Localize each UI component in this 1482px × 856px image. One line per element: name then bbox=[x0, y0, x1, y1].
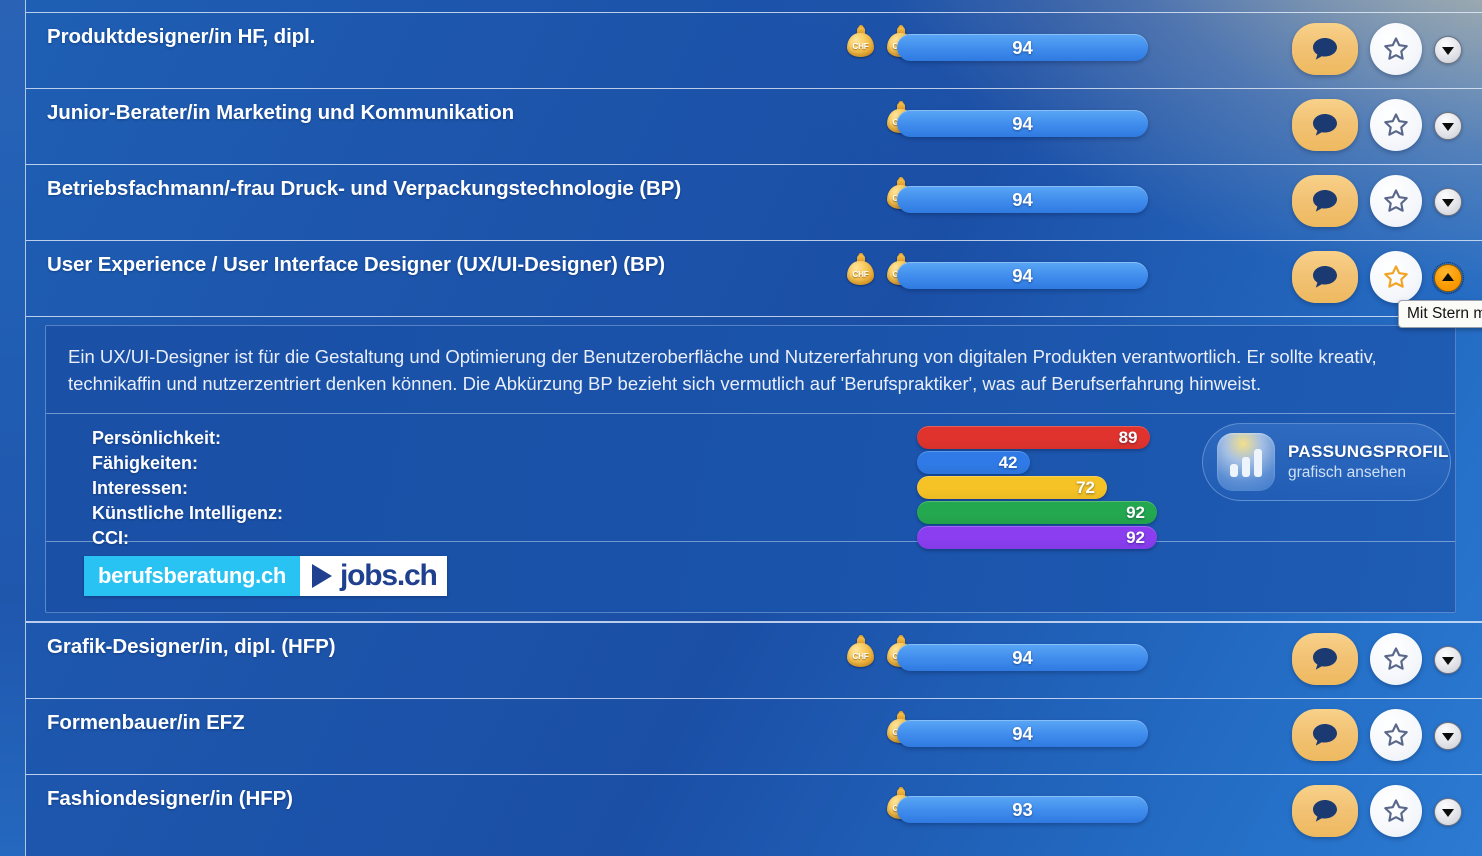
star-button[interactable] bbox=[1370, 785, 1422, 837]
expand-toggle-button[interactable] bbox=[1434, 798, 1462, 826]
star-button[interactable] bbox=[1370, 175, 1422, 227]
job-list: Produktdesigner/in HF, dipl.CHFCHF94Juni… bbox=[26, 0, 1482, 850]
chat-bubble-icon bbox=[1312, 799, 1338, 823]
job-row[interactable]: User Experience / User Interface Designe… bbox=[26, 240, 1482, 316]
chat-bubble-icon bbox=[1312, 723, 1338, 747]
star-icon bbox=[1382, 722, 1410, 749]
money-bag-chf-icon: CHF bbox=[847, 27, 874, 57]
star-icon bbox=[1382, 112, 1410, 139]
star-button[interactable] bbox=[1370, 23, 1422, 75]
star-icon bbox=[1382, 264, 1410, 291]
score-value: 42 bbox=[999, 453, 1018, 473]
job-title: Produktdesigner/in HF, dipl. bbox=[47, 25, 315, 49]
star-icon bbox=[1382, 188, 1410, 215]
job-match-list-page: Produktdesigner/in HF, dipl.CHFCHF94Juni… bbox=[0, 0, 1482, 856]
star-button[interactable] bbox=[1370, 251, 1422, 303]
match-score-value: 94 bbox=[1012, 37, 1033, 59]
match-score-bar: 94 bbox=[897, 110, 1148, 137]
match-score-value: 94 bbox=[1012, 265, 1033, 287]
score-bar-column: 8942729292 bbox=[917, 426, 1167, 551]
score-label: CCI: bbox=[92, 526, 283, 551]
job-title: Betriebsfachmann/-frau Druck- und Verpac… bbox=[47, 177, 681, 201]
chat-button[interactable] bbox=[1292, 99, 1358, 151]
match-score-bar: 94 bbox=[897, 720, 1148, 747]
collapse-toggle-button[interactable] bbox=[1434, 264, 1462, 292]
score-bar: 92 bbox=[917, 526, 1157, 549]
score-label: Interessen: bbox=[92, 476, 283, 501]
score-label: Persönlichkeit: bbox=[92, 426, 283, 451]
row-actions bbox=[1292, 785, 1462, 837]
chevron-down-icon bbox=[1442, 199, 1454, 207]
job-detail-panel: Ein UX/UI-Designer ist für die Gestaltun… bbox=[26, 316, 1482, 622]
score-label: Künstliche Intelligenz: bbox=[92, 501, 283, 526]
chat-button[interactable] bbox=[1292, 175, 1358, 227]
chat-button[interactable] bbox=[1292, 785, 1358, 837]
score-value: 72 bbox=[1076, 478, 1095, 498]
passungsprofil-subtitle: grafisch ansehen bbox=[1288, 464, 1449, 482]
chat-button[interactable] bbox=[1292, 251, 1358, 303]
star-tooltip: Mit Stern ma bbox=[1398, 300, 1482, 328]
job-title: Fashiondesigner/in (HFP) bbox=[47, 787, 293, 811]
expand-toggle-button[interactable] bbox=[1434, 36, 1462, 64]
bar-chart-icon bbox=[1217, 433, 1275, 491]
score-value: 92 bbox=[1126, 503, 1145, 523]
job-title: Junior-Berater/in Marketing und Kommunik… bbox=[47, 101, 514, 125]
star-icon bbox=[1382, 646, 1410, 673]
chat-bubble-icon bbox=[1312, 647, 1338, 671]
job-row[interactable]: Grafik-Designer/in, dipl. (HFP)CHFCHF94 bbox=[26, 622, 1482, 698]
match-score-bar: 94 bbox=[897, 644, 1148, 671]
job-description: Ein UX/UI-Designer ist für die Gestaltun… bbox=[46, 326, 1455, 414]
chevron-down-icon bbox=[1442, 809, 1454, 817]
score-value: 89 bbox=[1119, 428, 1138, 448]
score-bar: 89 bbox=[917, 426, 1150, 449]
chevron-down-icon bbox=[1442, 733, 1454, 741]
match-score-bar: 94 bbox=[897, 34, 1148, 61]
chat-button[interactable] bbox=[1292, 709, 1358, 761]
row-actions bbox=[1292, 99, 1462, 151]
partner-logos: berufsberatung.chjobs.ch bbox=[46, 542, 1455, 612]
job-row[interactable]: Produktdesigner/in HF, dipl.CHFCHF94 bbox=[26, 12, 1482, 88]
match-score-bar: 94 bbox=[897, 186, 1148, 213]
chevron-down-icon bbox=[1442, 657, 1454, 665]
chat-button[interactable] bbox=[1292, 633, 1358, 685]
score-value: 92 bbox=[1126, 528, 1145, 548]
chat-button[interactable] bbox=[1292, 23, 1358, 75]
money-bag-chf-icon: CHF bbox=[847, 637, 874, 667]
jobs-logo-text: jobs.ch bbox=[340, 561, 437, 591]
detail-card: Ein UX/UI-Designer ist für die Gestaltun… bbox=[45, 325, 1456, 613]
match-score-bar: 94 bbox=[897, 262, 1148, 289]
job-row[interactable]: Junior-Berater/in Marketing und Kommunik… bbox=[26, 88, 1482, 164]
star-button[interactable] bbox=[1370, 709, 1422, 761]
score-bar: 72 bbox=[917, 476, 1107, 499]
match-score-bar: 93 bbox=[897, 796, 1148, 823]
job-row-partial[interactable] bbox=[26, 0, 1482, 12]
passungsprofil-button[interactable]: PASSUNGSPROFILgrafisch ansehen bbox=[1202, 423, 1451, 501]
passungsprofil-title: PASSUNGSPROFIL bbox=[1288, 442, 1449, 462]
star-button[interactable] bbox=[1370, 99, 1422, 151]
chat-bubble-icon bbox=[1312, 189, 1338, 213]
job-title: Grafik-Designer/in, dipl. (HFP) bbox=[47, 635, 336, 659]
score-label-column: Persönlichkeit:Fähigkeiten:Interessen:Kü… bbox=[92, 426, 283, 551]
row-actions bbox=[1292, 251, 1462, 303]
job-row[interactable]: Fashiondesigner/in (HFP)CHF93 bbox=[26, 774, 1482, 850]
job-title: Formenbauer/in EFZ bbox=[47, 711, 245, 735]
star-icon bbox=[1382, 798, 1410, 825]
match-score-value: 94 bbox=[1012, 723, 1033, 745]
row-actions bbox=[1292, 175, 1462, 227]
star-button[interactable] bbox=[1370, 633, 1422, 685]
match-score-value: 93 bbox=[1012, 799, 1033, 821]
job-title: User Experience / User Interface Designe… bbox=[47, 253, 665, 277]
expand-toggle-button[interactable] bbox=[1434, 722, 1462, 750]
jobs-logo[interactable]: jobs.ch bbox=[300, 556, 447, 596]
chevron-down-icon bbox=[1442, 47, 1454, 55]
job-row[interactable]: Formenbauer/in EFZCHF94 bbox=[26, 698, 1482, 774]
expand-toggle-button[interactable] bbox=[1434, 188, 1462, 216]
row-actions bbox=[1292, 709, 1462, 761]
match-score-value: 94 bbox=[1012, 189, 1033, 211]
match-score-value: 94 bbox=[1012, 113, 1033, 135]
score-bar: 42 bbox=[917, 451, 1030, 474]
expand-toggle-button[interactable] bbox=[1434, 646, 1462, 674]
expand-toggle-button[interactable] bbox=[1434, 112, 1462, 140]
chevron-down-icon bbox=[1442, 123, 1454, 131]
row-actions bbox=[1292, 633, 1462, 685]
score-bar: 92 bbox=[917, 501, 1157, 524]
chat-bubble-icon bbox=[1312, 37, 1338, 61]
chat-bubble-icon bbox=[1312, 113, 1338, 137]
berufsberatung-logo[interactable]: berufsberatung.ch bbox=[84, 556, 300, 596]
match-score-value: 94 bbox=[1012, 647, 1033, 669]
left-gutter bbox=[0, 0, 25, 856]
star-icon bbox=[1382, 36, 1410, 63]
money-bag-chf-icon: CHF bbox=[847, 255, 874, 285]
play-triangle-icon bbox=[312, 564, 332, 588]
row-actions bbox=[1292, 23, 1462, 75]
score-label: Fähigkeiten: bbox=[92, 451, 283, 476]
chevron-up-icon bbox=[1442, 273, 1454, 281]
chat-bubble-icon bbox=[1312, 265, 1338, 289]
job-row[interactable]: Betriebsfachmann/-frau Druck- und Verpac… bbox=[26, 164, 1482, 240]
score-breakdown: Persönlichkeit:Fähigkeiten:Interessen:Kü… bbox=[46, 414, 1455, 542]
